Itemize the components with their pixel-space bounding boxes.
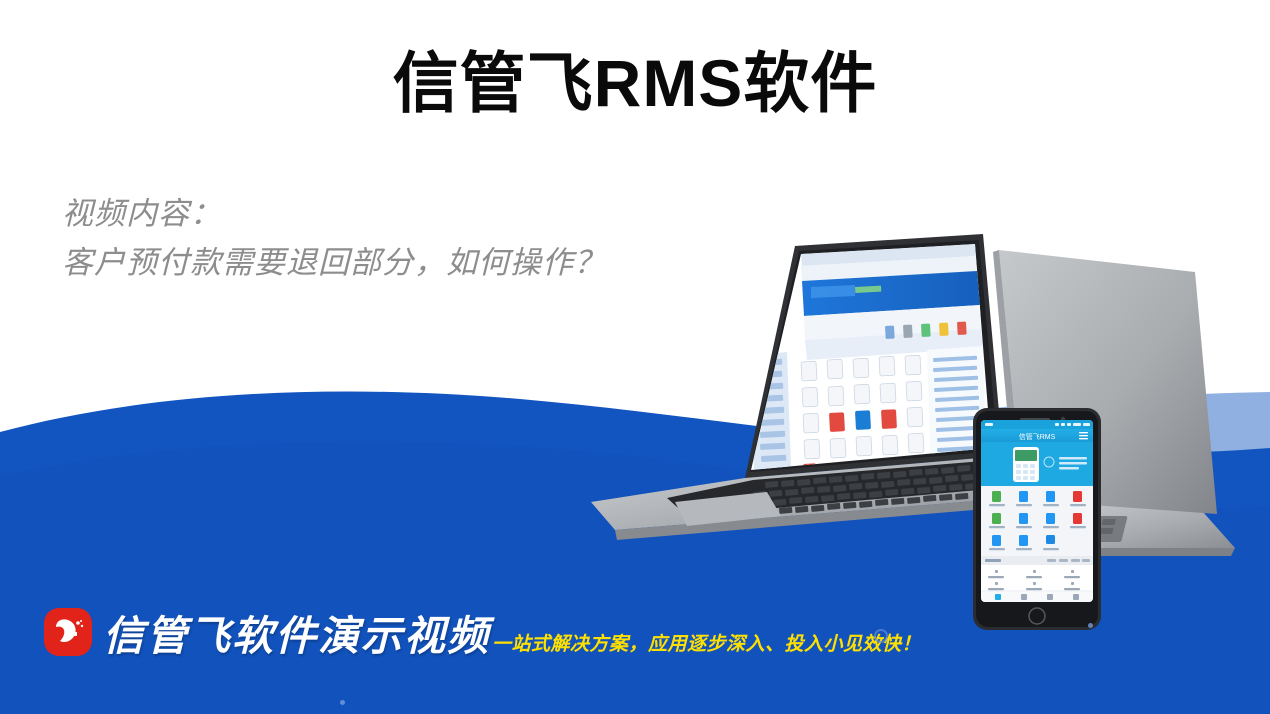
subtitle-line-1: 视频内容： [62, 190, 606, 239]
page-title: 信管飞RMS软件 [0, 46, 1270, 122]
phone-screen: 信管飞RMS [981, 420, 1093, 604]
subtitle-block: 视频内容： 客户预付款需要退回部分，如何操作？ [62, 190, 606, 288]
decor-ring [874, 629, 888, 643]
banner-tagline: 一站式解决方案，应用逐步深入、投入小见效快！ [492, 629, 921, 656]
banner-title: 信管飞软件演示视频 [103, 602, 490, 662]
phone-menu-icon [1079, 432, 1088, 439]
device-photo-group: 信管飞RMS [555, 230, 1255, 650]
brand-logo-icon [44, 608, 92, 656]
phone-device: 信管飞RMS [973, 408, 1101, 630]
laptop-front [591, 234, 1013, 540]
laptop-front-screen [745, 234, 1007, 482]
decor-dot-2 [1088, 623, 1093, 628]
slide-canvas: 信管飞RMS软件 视频内容： 客户预付款需要退回部分，如何操作？ [0, 0, 1270, 714]
subtitle-line-2: 客户预付款需要退回部分，如何操作？ [62, 239, 606, 288]
decor-dot-1 [340, 700, 345, 705]
phone-app-title: 信管飞RMS [1019, 432, 1056, 441]
